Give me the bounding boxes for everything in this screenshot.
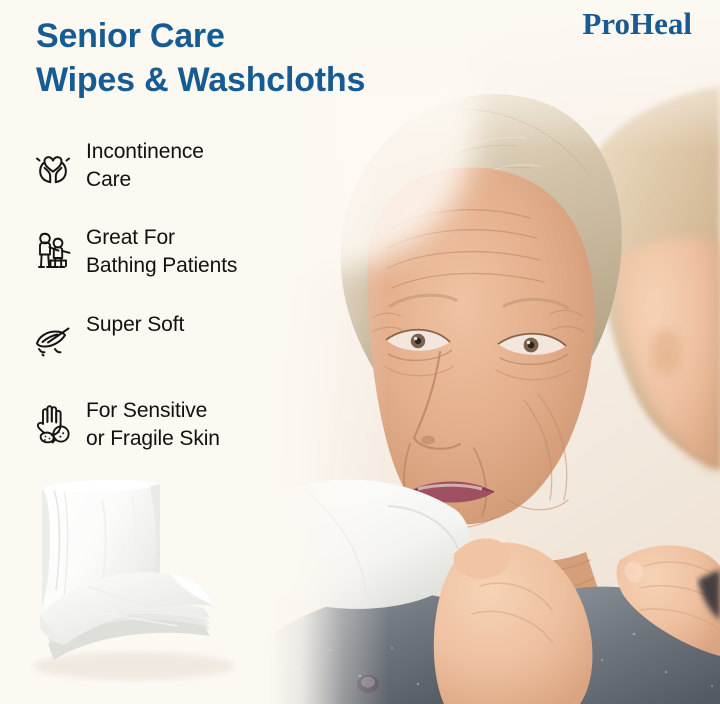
feature-label-line-1: Incontinence <box>86 140 204 163</box>
product-image-washcloth-stack <box>18 466 248 686</box>
feature-label-line-1: Great For <box>86 226 175 249</box>
feature-item-bathing-patients: Great For Bathing Patients <box>28 222 328 280</box>
feature-label-line-1: Super Soft <box>86 313 184 336</box>
feature-label-line-2: Care <box>86 166 328 194</box>
feature-item-label: Great For Bathing Patients <box>86 222 328 280</box>
caregiver-assisting-patient-icon <box>28 222 86 280</box>
feature-label-line-1: For Sensitive <box>86 399 207 422</box>
page-title: Senior Care Wipes & Washcloths <box>36 14 496 102</box>
product-marketing-image: Senior Care Wipes & Washcloths ProHeal I… <box>0 0 720 704</box>
feature-item-label: Super Soft <box>86 309 328 339</box>
feature-item-sensitive-skin: For Sensitive or Fragile Skin <box>28 395 328 453</box>
feature-item-incontinence-care: Incontinence Care <box>28 136 328 194</box>
proheal-logo: ProHeal <box>582 6 692 42</box>
hands-holding-heart-icon <box>28 136 86 194</box>
feature-item-label: For Sensitive or Fragile Skin <box>86 395 328 453</box>
feature-label-line-2: Bathing Patients <box>86 252 328 280</box>
feature-list: Incontinence Care <box>28 136 328 481</box>
feather-icon <box>28 309 86 367</box>
feature-item-super-soft: Super Soft <box>28 309 328 367</box>
hand-sensitive-skin-magnifier-icon <box>28 395 86 453</box>
feature-label-line-2: or Fragile Skin <box>86 425 328 453</box>
proheal-logo-text: ProHeal <box>582 6 692 41</box>
page-title-line-1: Senior Care <box>36 14 496 58</box>
photo-caregiver-wiping-elderly-womans-face <box>268 0 720 704</box>
page-title-line-2: Wipes & Washcloths <box>36 58 496 102</box>
feature-item-label: Incontinence Care <box>86 136 328 194</box>
